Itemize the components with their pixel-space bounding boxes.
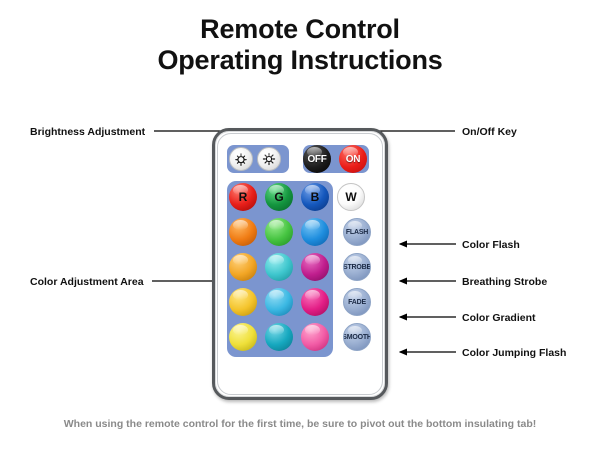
callout-fade-label: Color Gradient (462, 312, 536, 324)
sun-icon (261, 151, 277, 167)
remote-control-body: OFF ON RGBW FLASHSTROBEFADESMOOTH (212, 128, 388, 400)
color-button-r5c3[interactable] (301, 323, 329, 351)
color-button-r2c3[interactable] (301, 218, 329, 246)
color-button-label: B (311, 190, 320, 204)
color-button-r4c2[interactable] (265, 288, 293, 316)
color-button-r4c1[interactable] (229, 288, 257, 316)
on-button[interactable]: ON (339, 145, 367, 173)
page-title: Remote Control Operating Instructions (0, 14, 600, 77)
fade-button-label: FADE (348, 299, 366, 306)
off-button[interactable]: OFF (303, 145, 331, 173)
callout-onoff-label: On/Off Key (462, 126, 517, 138)
page-title-line-1: Remote Control (0, 14, 600, 45)
flash-button-label: FLASH (346, 229, 368, 236)
fade-button[interactable]: FADE (343, 288, 371, 316)
off-button-label: OFF (307, 154, 326, 165)
color-button-label: G (274, 190, 283, 204)
callout-brightness-label: Brightness Adjustment (30, 126, 145, 138)
callout-smooth-label: Color Jumping Flash (462, 347, 566, 359)
callout-flash-label: Color Flash (462, 239, 520, 251)
sun-icon (233, 151, 249, 167)
color-button-r3c1[interactable] (229, 253, 257, 281)
color-button-r3c3[interactable] (301, 253, 329, 281)
color-button-r5c1[interactable] (229, 323, 257, 351)
color-button-r2c2[interactable] (265, 218, 293, 246)
flash-button[interactable]: FLASH (343, 218, 371, 246)
color-button-r2c1[interactable] (229, 218, 257, 246)
page-title-line-2: Operating Instructions (0, 45, 600, 76)
callout-color-area-label: Color Adjustment Area (30, 276, 144, 288)
smooth-button[interactable]: SMOOTH (343, 323, 371, 351)
strobe-button[interactable]: STROBE (343, 253, 371, 281)
color-button-label: R (239, 190, 248, 204)
color-button-r1c3[interactable]: B (301, 183, 329, 211)
color-button-r1c4[interactable]: W (337, 183, 365, 211)
color-button-r3c2[interactable] (265, 253, 293, 281)
color-button-r1c2[interactable]: G (265, 183, 293, 211)
footer-note: When using the remote control for the fi… (0, 418, 600, 430)
brightness-down-button[interactable] (257, 147, 281, 171)
color-button-r5c2[interactable] (265, 323, 293, 351)
callout-strobe-label: Breathing Strobe (462, 276, 547, 288)
smooth-button-label: SMOOTH (343, 334, 371, 341)
color-button-r4c3[interactable] (301, 288, 329, 316)
strobe-button-label: STROBE (343, 264, 371, 271)
color-button-label: W (345, 190, 356, 204)
color-button-r1c1[interactable]: R (229, 183, 257, 211)
on-button-label: ON (346, 154, 360, 165)
brightness-up-button[interactable] (229, 147, 253, 171)
